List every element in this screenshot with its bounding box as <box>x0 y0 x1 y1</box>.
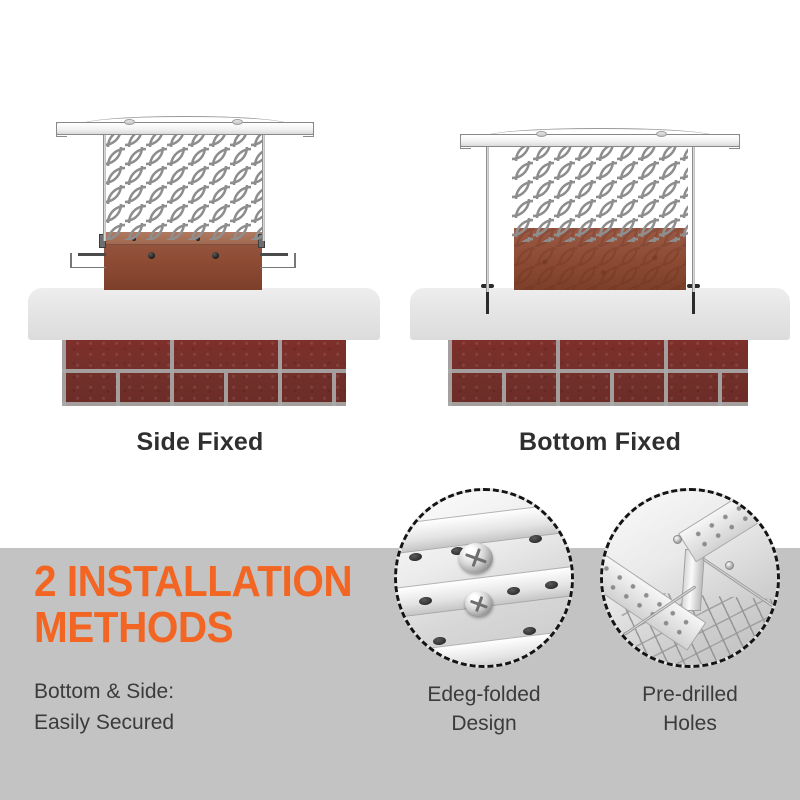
lid-screw-boss <box>124 119 135 125</box>
brick-chimney <box>62 340 346 406</box>
promo-subline: Bottom & Side: Easily Secured <box>34 676 394 738</box>
promo-headline-line2: METHODS <box>34 605 365 651</box>
lid-screw-boss <box>656 131 667 137</box>
diagram-bottom-fixed <box>400 0 800 470</box>
side-bracket-arm <box>70 267 106 268</box>
feature-photo-pre-drilled <box>600 488 780 668</box>
lid-edge-lip <box>460 134 461 149</box>
lid-edge-foot <box>56 136 67 137</box>
lid-edge-foot <box>729 148 740 149</box>
chimney-crown <box>410 288 790 340</box>
illustration-area: Side Fixed Bottom Fixed <box>0 0 800 548</box>
drilled-hole <box>529 534 543 544</box>
promo-subline-line1: Bottom & Side: <box>34 676 394 707</box>
lid-edge-lip <box>313 122 314 137</box>
label-side-fixed: Side Fixed <box>0 428 400 457</box>
lid-edge-foot <box>460 148 471 149</box>
photo-pre-drilled-holes <box>603 491 777 665</box>
promo-headline: 2 INSTALLATION METHODS <box>34 559 365 651</box>
flue-liner <box>104 232 262 290</box>
dashed-circle-frame <box>600 488 780 668</box>
cap-lid <box>460 128 740 152</box>
lid-plate <box>56 122 314 135</box>
lid-plate <box>460 134 740 147</box>
side-bracket-arm <box>70 253 72 268</box>
dashed-circle-frame <box>394 488 574 668</box>
lid-screw-boss <box>536 131 547 137</box>
label-bottom-fixed: Bottom Fixed <box>400 428 800 457</box>
drilled-plate <box>678 488 780 562</box>
metal-rail <box>394 626 574 668</box>
cap-leg <box>262 133 265 241</box>
mesh-screen <box>512 142 688 242</box>
chimney-crown <box>28 288 380 340</box>
caption-edge-folded-line2: Design <box>384 709 584 738</box>
promo-headline-line1: 2 INSTALLATION <box>34 559 365 605</box>
caption-edge-folded-line1: Edeg-folded <box>384 680 584 709</box>
cap-leg <box>103 133 106 241</box>
feature-photo-edge-folded <box>394 488 574 668</box>
side-bracket-arm <box>260 253 288 256</box>
infographic-canvas: Side Fixed Bottom Fixed 2 INSTALLATION M… <box>0 0 800 800</box>
caption-pre-drilled-line2: Holes <box>590 709 790 738</box>
side-bracket-arm <box>78 253 106 256</box>
lid-edge-lip <box>56 122 57 137</box>
caption-pre-drilled: Pre-drilled Holes <box>590 680 790 738</box>
phillips-screw <box>459 543 493 573</box>
promo-subline-line2: Easily Secured <box>34 707 394 738</box>
hole-row <box>688 488 780 553</box>
bracket-screw <box>212 252 219 259</box>
drilled-hole <box>433 636 447 646</box>
phillips-screw <box>465 591 493 616</box>
cap-leg <box>486 146 489 292</box>
cap-lid <box>56 116 314 140</box>
lid-edge-foot <box>303 136 314 137</box>
drilled-hole <box>409 552 423 562</box>
diagram-side-fixed <box>0 0 400 470</box>
caption-edge-folded: Edeg-folded Design <box>384 680 584 738</box>
brick-course-offset <box>448 373 748 406</box>
caption-pre-drilled-line1: Pre-drilled <box>590 680 790 709</box>
side-bracket-arm <box>260 267 296 268</box>
side-bracket-arm <box>294 253 296 268</box>
lid-screw-boss <box>232 119 243 125</box>
photo-folded-edge <box>397 491 571 665</box>
bracket-screw <box>148 252 155 259</box>
brick-chimney <box>448 340 748 406</box>
brick-course-offset <box>62 373 346 406</box>
cap-leg <box>692 146 695 292</box>
lid-edge-lip <box>739 134 740 149</box>
bolt-head <box>725 561 734 570</box>
bolt-head <box>673 535 682 544</box>
mesh-screen <box>104 128 264 240</box>
